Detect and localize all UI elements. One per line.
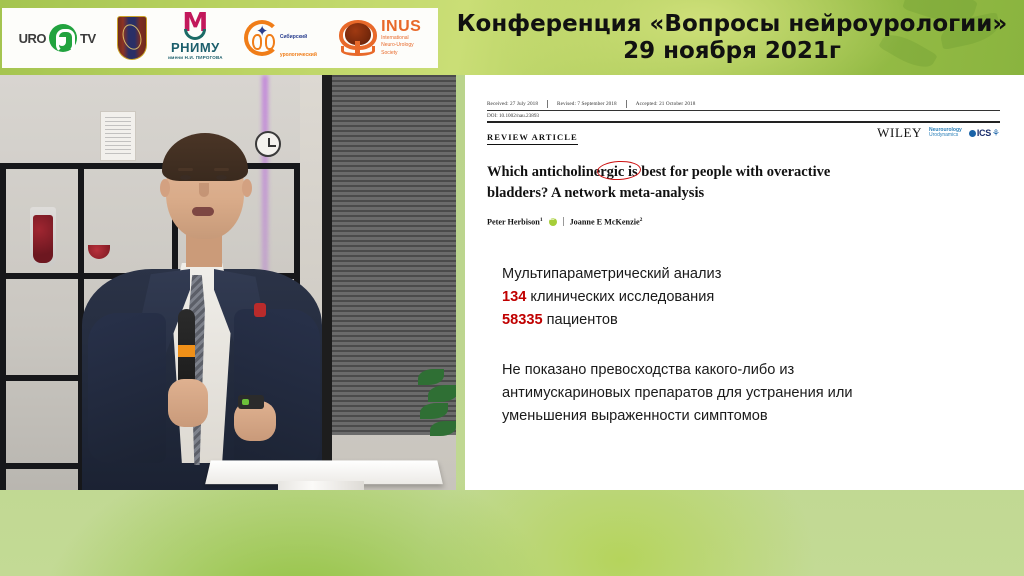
study-count-label: клинических исследования (526, 289, 714, 305)
conclusion-text-block: Не показано превосходства какого-либо из… (502, 359, 972, 427)
rnimu-monogram-icon (180, 16, 210, 36)
uro-tv-logo-right-text: TV (80, 31, 96, 46)
journal-line-2: Urodynamics (929, 133, 962, 138)
kidney-left-icon (252, 34, 262, 50)
brain-icon (339, 18, 377, 58)
uro-tv-logo: URO TV (19, 24, 96, 52)
lapel-pin-icon (254, 303, 266, 317)
summary-line-1: Мультипараметрический анализ (502, 263, 982, 286)
uro-tv-logo-mark-icon (49, 24, 77, 52)
potted-plant (418, 365, 456, 475)
conference-header: URO TV РНИМУ имени Н.И. ПИРОГОВА ✦ Сибир… (0, 0, 1024, 75)
paper-doi: DOI: 10.1002/nau.23893 (487, 111, 1000, 123)
presentation-clicker-icon (238, 395, 264, 409)
publisher-logos: WILEY Neurourology Urodynamics ICS ⚘ (877, 125, 1000, 141)
speaker-figure (82, 123, 322, 490)
summary-line-3: 58335 пациентов (502, 309, 982, 332)
paper-metadata: Received: 27 July 2018 Revised: 7 Septem… (487, 100, 1000, 123)
wiley-logo: WILEY (877, 125, 922, 141)
paper-accepted-date: Accepted: 21 October 2018 (636, 101, 696, 107)
speaker-video-panel[interactable]: Ефремов Н.С. (0, 75, 456, 490)
conference-title-line-2: 29 ноября 2021г (623, 38, 841, 65)
presentation-stage: URO TV РНИМУ имени Н.И. ПИРОГОВА ✦ Сибир… (0, 0, 1024, 576)
conclusion-line-2: антимускариновых препаратов для устранен… (502, 382, 972, 405)
author-2: Joanne E McKenzie2 (570, 217, 643, 227)
paper-title-line-2: bladders? A network meta-analysis (487, 185, 704, 201)
ics-logo: ICS ⚘ (969, 128, 1000, 139)
inus-sub1: International (381, 35, 421, 43)
rnimu-name: РНИМУ (171, 40, 220, 55)
decorative-vase (30, 207, 56, 267)
paper-revised-date: Revised: 7 September 2018 (557, 101, 617, 107)
journal-logo: Neurourology Urodynamics (929, 128, 962, 139)
inus-sub2: Neuro-Urology (381, 42, 421, 50)
conclusion-line-1: Не показано превосходства какого-либо из (502, 359, 972, 382)
pirogov-shield-logo (117, 16, 147, 60)
inus-abbr: INUS (381, 19, 421, 35)
orange-logo-text: Сибирский урологический (280, 25, 318, 61)
orcid-icon (549, 218, 557, 226)
summary-line-2: 134 клинических исследования (502, 286, 982, 309)
paper-authors: Peter Herbison1 Joanne E McKenzie2 (487, 217, 642, 227)
paper-dates-row: Received: 27 July 2018 Revised: 7 Septem… (487, 100, 1000, 111)
study-count: 134 (502, 289, 526, 305)
sponsor-logo-bar: URO TV РНИМУ имени Н.И. ПИРОГОВА ✦ Сибир… (2, 8, 438, 68)
conference-title-line-1: Конференция «Вопросы нейроурологии» (457, 11, 1007, 38)
uro-tv-logo-left-text: URO (19, 31, 46, 46)
orange-logo-line1: Сибирский (280, 34, 307, 40)
ics-mark-icon: ⚘ (992, 128, 1000, 139)
paper-title-part-b: for people with overactive (666, 164, 830, 180)
paper-title: Which anticholinergic is best for people… (487, 162, 907, 203)
paper-title-highlighted-word: best (641, 164, 666, 180)
inus-sub3: Society (381, 50, 421, 58)
orange-logo-line2: урологический (280, 52, 317, 58)
orange-circle-logo: ✦ Сибирский урологический (244, 17, 318, 59)
kidney-right-icon (265, 34, 275, 50)
rnimu-subname: имени Н.И. ПИРОГОВА (168, 55, 223, 60)
conference-title: Конференция «Вопросы нейроурологии» 29 н… (440, 4, 1024, 72)
rnimu-logo: РНИМУ имени Н.И. ПИРОГОВА (168, 16, 223, 60)
patient-count: 58335 (502, 312, 543, 328)
ics-dot-icon (969, 130, 976, 137)
presentation-slide[interactable]: Received: 27 July 2018 Revised: 7 Septem… (465, 75, 1024, 490)
summary-text-block: Мультипараметрический анализ 134 клиниче… (502, 263, 982, 331)
ics-label: ICS (977, 128, 991, 138)
paper-section-label: REVIEW ARTICLE (487, 132, 578, 145)
conclusion-line-3: уменьшения выраженности симптомов (502, 405, 972, 428)
author-1: Peter Herbison1 (487, 217, 543, 227)
patient-count-label: пациентов (543, 312, 618, 328)
paper-received-date: Received: 27 July 2018 (487, 101, 538, 107)
inus-logo: INUS International Neuro-Urology Society (339, 18, 421, 58)
